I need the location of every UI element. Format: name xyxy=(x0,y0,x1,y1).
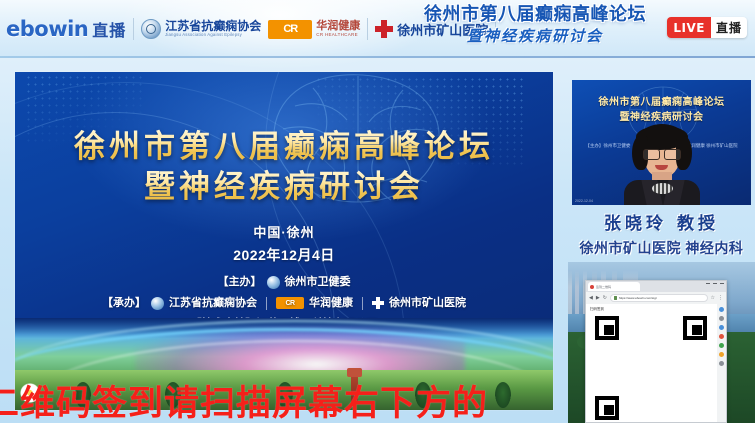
seal-icon xyxy=(267,276,280,289)
video-bg-title-line1: 徐州市第八届癫痫高峰论坛 xyxy=(572,96,751,111)
header-rule xyxy=(0,56,755,58)
host-label: 【主办】 xyxy=(218,272,262,293)
browser-tab[interactable]: 签到二维码 xyxy=(588,282,640,291)
partner-name-en: Jiangsu Association Against Epilepsy xyxy=(165,33,256,37)
speaker-info: 张晓玲 教授 徐州市矿山医院 神经内科 xyxy=(568,212,755,259)
host-name: 徐州市卫健委 xyxy=(285,272,351,293)
live-tag: LIVE xyxy=(667,17,711,38)
sidebar-icon-3[interactable] xyxy=(719,325,724,330)
slide-title-line1: 徐州市第八届癫痫高峰论坛 xyxy=(15,127,553,167)
livestream-page: ebowin 直播 江苏省抗癫痫协会 Jiangsu Association A… xyxy=(0,0,755,423)
seal-icon xyxy=(141,19,161,39)
browser-side-toolbar[interactable] xyxy=(717,303,726,423)
live-badge: LIVE 直播 xyxy=(667,17,747,38)
ebowin-live-label: 直播 xyxy=(92,17,126,41)
presentation-slide[interactable]: 徐州市第八届癫痫高峰论坛 暨神经疾病研讨会 中国·徐州 2022年12月4日 【… xyxy=(15,72,553,410)
qr-finder-top-left xyxy=(595,316,619,340)
speaker-name: 张晓玲 教授 xyxy=(568,212,755,238)
header-divider-1 xyxy=(133,18,134,40)
partner-name-cn: 江苏省抗癫痫协会 xyxy=(165,20,261,33)
partner-logo-cr-healthcare[interactable]: CR 华润健康 CR HEALTHCARE xyxy=(268,20,360,39)
browser-tab-title: 签到二维码 xyxy=(596,285,611,289)
hospital-cross-icon xyxy=(372,297,384,309)
organizer-divider-1 xyxy=(266,297,267,310)
star-icon[interactable]: ☆ xyxy=(711,296,715,301)
window-controls[interactable] xyxy=(706,283,724,284)
minimize-icon[interactable] xyxy=(706,283,710,284)
coorganizer-3: 徐州市矿山医院 xyxy=(389,293,466,314)
cr-healthcare-icon: CR xyxy=(276,297,304,309)
close-icon[interactable] xyxy=(720,283,724,284)
header-title-line1: 徐州市第八届癫痫高峰论坛 xyxy=(404,2,666,26)
slide-title: 徐州市第八届癫痫高峰论坛 暨神经疾病研讨会 xyxy=(15,127,553,208)
video-bg-title-line2: 暨神经疾病研讨会 xyxy=(572,111,751,126)
maximize-icon[interactable] xyxy=(713,283,717,284)
coorganizer-row: 【承办】 江苏省抗癫痫协会 CR 华润健康 徐州市矿山医院 xyxy=(15,293,553,314)
browser-tab-bar: 签到二维码 xyxy=(586,281,726,292)
speaker-organization: 徐州市矿山医院 神经内科 xyxy=(568,238,755,259)
host-row: 【主办】 徐州市卫健委 xyxy=(15,272,553,293)
page-heading-text: 扫码签到 xyxy=(590,307,604,312)
sidebar-icon-4[interactable] xyxy=(719,334,724,339)
video-timestamp: 2022-12-04 xyxy=(575,199,593,203)
hospital-cross-icon xyxy=(375,20,393,38)
reload-icon[interactable]: ↻ xyxy=(603,296,607,301)
back-icon[interactable]: ◀ xyxy=(589,296,593,301)
sidebar-icon-7[interactable] xyxy=(719,361,724,366)
necklace xyxy=(652,183,673,194)
browser-nav-bar: ◀ ▶ ↻ https://www.ebowin.com/sign ☆ ⋮ xyxy=(586,292,726,304)
cr-mark-text: CR xyxy=(285,297,294,310)
coorganizer-label: 【承办】 xyxy=(102,293,146,314)
cr-mark-text: CR xyxy=(283,23,297,35)
forward-icon[interactable]: ▶ xyxy=(596,296,600,301)
speaker-panel: 徐州市第八届癫痫高峰论坛 暨神经疾病研讨会 中国·徐州 2022年12月4日 【… xyxy=(568,62,755,423)
speaker-avatar xyxy=(624,124,700,205)
qr-page-body xyxy=(586,314,726,423)
partner-name-cn: 华润健康 xyxy=(316,21,360,33)
address-bar-url: https://www.ebowin.com/sign xyxy=(619,296,658,300)
coorganizer-2: 华润健康 xyxy=(309,293,353,314)
header-title: 徐州市第八届癫痫高峰论坛 暨神经疾病研讨会 xyxy=(404,2,666,47)
sidebar-icon-6[interactable] xyxy=(719,352,724,357)
cr-healthcare-icon: CR xyxy=(268,20,312,39)
qr-browser-window[interactable]: 签到二维码 ◀ ▶ ↻ https://www.ebowin.com/sign … xyxy=(585,280,727,423)
page-header: ebowin 直播 江苏省抗癫痫协会 Jiangsu Association A… xyxy=(0,0,755,58)
partner-logo-jiangsu-epilepsy[interactable]: 江苏省抗癫痫协会 Jiangsu Association Against Epi… xyxy=(141,19,261,39)
address-bar[interactable]: https://www.ebowin.com/sign xyxy=(610,294,708,302)
menu-icon[interactable]: ⋮ xyxy=(718,296,723,301)
sidebar-icon-2[interactable] xyxy=(719,316,724,321)
coorganizer-1: 江苏省抗癫痫协会 xyxy=(169,293,257,314)
sidebar-icon-5[interactable] xyxy=(719,343,724,348)
qr-finder-top-right xyxy=(683,316,707,340)
slide-title-line2: 暨神经疾病研讨会 xyxy=(15,167,553,207)
slide-city: 中国·徐州 xyxy=(15,222,553,244)
sidebar-icon-1[interactable] xyxy=(719,307,724,312)
speaker-video[interactable]: 徐州市第八届癫痫高峰论坛 暨神经疾病研讨会 中国·徐州 2022年12月4日 【… xyxy=(572,80,751,205)
header-divider-2 xyxy=(367,18,368,40)
secure-lock-icon xyxy=(614,296,617,300)
ebowin-logo[interactable]: ebowin 直播 xyxy=(6,17,126,41)
header-title-line2: 暨神经疾病研讨会 xyxy=(404,26,666,47)
glasses-icon xyxy=(643,149,681,158)
seal-icon xyxy=(151,297,164,310)
organizer-divider-2 xyxy=(362,297,363,310)
scan-qr-notice: 二维码签到请扫描屏幕右下方的 xyxy=(0,375,604,423)
page-heading: 扫码签到 xyxy=(586,304,726,314)
slide-subtitle: 中国·徐州 2022年12月4日 xyxy=(15,222,553,268)
video-bg-title: 徐州市第八届癫痫高峰论坛 暨神经疾病研讨会 xyxy=(572,96,751,125)
live-label: 直播 xyxy=(711,17,747,38)
favicon-icon xyxy=(590,285,594,289)
ebowin-wordmark: ebowin xyxy=(6,19,88,40)
partner-name-en: CR HEALTHCARE xyxy=(316,32,360,37)
slide-date: 2022年12月4日 xyxy=(15,244,553,268)
